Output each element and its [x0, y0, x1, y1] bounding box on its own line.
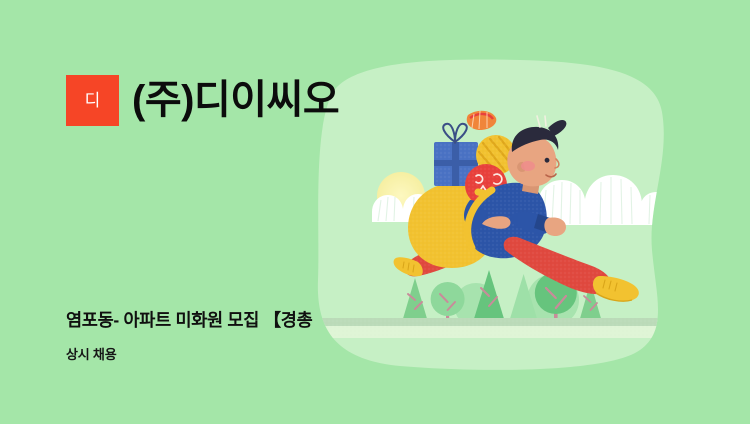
company-name: (주)디이씨오 — [132, 80, 339, 120]
runner-front-arm — [512, 212, 566, 236]
tree-pine — [473, 270, 505, 324]
gift-sack — [408, 183, 496, 268]
tree-group — [402, 270, 602, 324]
background-blob — [318, 60, 664, 370]
sack-strap-back — [478, 192, 510, 236]
runner-back-leg — [405, 229, 493, 276]
job-posting-title: 염포동- 아파트 미화원 모집 【경총 — [66, 307, 312, 332]
cloud-left — [372, 194, 434, 222]
company-logo-row: 디 (주)디이씨오 — [66, 74, 339, 126]
job-posting-banner: 디 (주)디이씨오 염포동- 아파트 미화원 모집 【경총 상시 채용 — [0, 0, 750, 424]
runner-head — [507, 116, 566, 194]
tree-round — [431, 282, 465, 324]
company-logo-initial: 디 — [85, 92, 101, 109]
tree-round — [535, 272, 577, 324]
company-logo-mark: 디 — [66, 75, 119, 126]
sun-icon — [377, 172, 425, 220]
runner-back-arm — [464, 200, 511, 230]
gift-box — [434, 124, 478, 186]
patterned-ball — [465, 164, 507, 206]
tree-pine — [579, 282, 602, 324]
tree-pine — [402, 278, 428, 324]
runner-front-shoe — [593, 276, 639, 301]
ground-strip — [318, 318, 668, 338]
bush-group — [454, 274, 579, 327]
sack-strap-front — [468, 190, 492, 248]
tree-pine — [509, 274, 538, 324]
running-man — [394, 111, 639, 301]
orange-wedge — [467, 111, 497, 130]
cloud-right — [538, 175, 672, 225]
striped-ball — [476, 135, 516, 175]
employment-type-label: 상시 채용 — [66, 344, 116, 363]
runner-torso — [466, 183, 547, 259]
runner-front-leg — [504, 237, 612, 294]
runner-back-shoe — [394, 257, 423, 276]
